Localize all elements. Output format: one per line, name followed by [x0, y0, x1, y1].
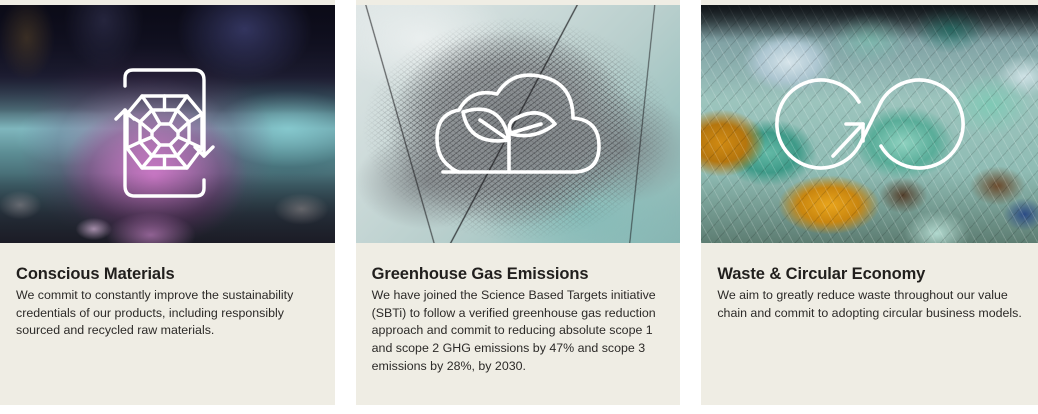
card-body-conscious-materials: Conscious Materials We commit to constan… — [0, 243, 335, 405]
card-greenhouse-gas-emissions[interactable]: Greenhouse Gas Emissions We have joined … — [356, 0, 681, 405]
card-title: Conscious Materials — [16, 265, 319, 285]
sustainability-cards-row: Conscious Materials We commit to constan… — [0, 0, 1038, 414]
fishing-net-photo — [356, 5, 681, 243]
recycled-glass-photo — [701, 5, 1038, 243]
card-image-waste-circular-economy — [701, 5, 1038, 243]
card-image-conscious-materials — [0, 5, 335, 243]
gemstone-photo — [0, 5, 335, 243]
card-body-waste-circular-economy: Waste & Circular Economy We aim to great… — [701, 243, 1038, 405]
card-description: We have joined the Science Based Targets… — [372, 287, 665, 376]
card-body-greenhouse-gas-emissions: Greenhouse Gas Emissions We have joined … — [356, 243, 681, 405]
card-title: Waste & Circular Economy — [717, 265, 1022, 285]
card-conscious-materials[interactable]: Conscious Materials We commit to constan… — [0, 0, 335, 405]
card-title: Greenhouse Gas Emissions — [372, 265, 665, 285]
card-description: We commit to constantly improve the sust… — [16, 287, 316, 340]
card-waste-circular-economy[interactable]: Waste & Circular Economy We aim to great… — [701, 0, 1038, 405]
card-image-greenhouse-gas-emissions — [356, 5, 681, 243]
card-description: We aim to greatly reduce waste throughou… — [717, 287, 1022, 322]
